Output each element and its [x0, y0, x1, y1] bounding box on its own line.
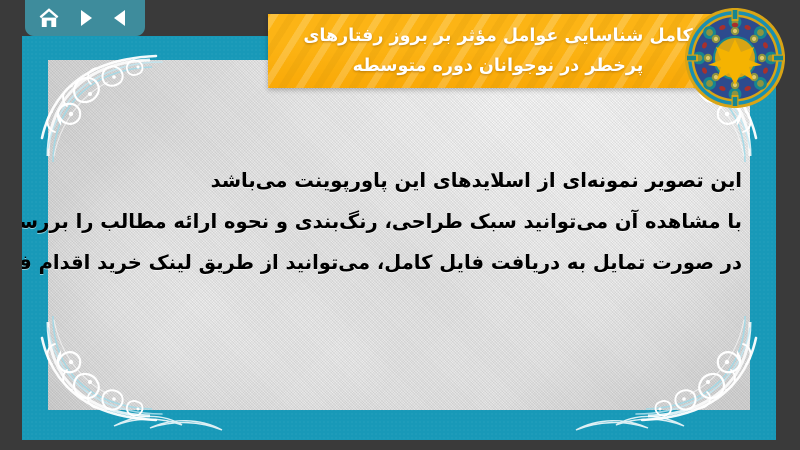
home-icon — [37, 6, 61, 30]
next-slide-button[interactable] — [72, 5, 98, 31]
title-line-2: پرخطر در نوجوانان دوره متوسطه — [353, 51, 644, 81]
body-line-3: در صورت تمایل به دریافت فایل کامل، می‌تو… — [22, 242, 742, 283]
home-button[interactable] — [36, 5, 62, 31]
slide-title-banner: کامل شناسایی عوامل مؤثر بر بروز رفتارهای… — [268, 14, 728, 88]
body-line-2: با مشاهده آن می‌توانید سبک طراحی، رنگ‌بن… — [22, 201, 742, 242]
slide-body-text: این تصویر نمونه‌ای از اسلایدهای این پاور… — [22, 160, 742, 283]
navigation-bar — [25, 0, 145, 36]
slide-frame: این تصویر نمونه‌ای از اسلایدهای این پاور… — [22, 36, 776, 440]
triangle-right-icon — [74, 7, 96, 29]
title-line-1: کامل شناسایی عوامل مؤثر بر بروز رفتارهای — [303, 21, 692, 51]
body-line-1: این تصویر نمونه‌ای از اسلایدهای این پاور… — [22, 160, 742, 201]
previous-slide-button[interactable] — [108, 5, 134, 31]
slide-viewer: این تصویر نمونه‌ای از اسلایدهای این پاور… — [0, 0, 800, 450]
persian-medallion-icon — [683, 6, 787, 110]
triangle-left-icon — [110, 7, 132, 29]
